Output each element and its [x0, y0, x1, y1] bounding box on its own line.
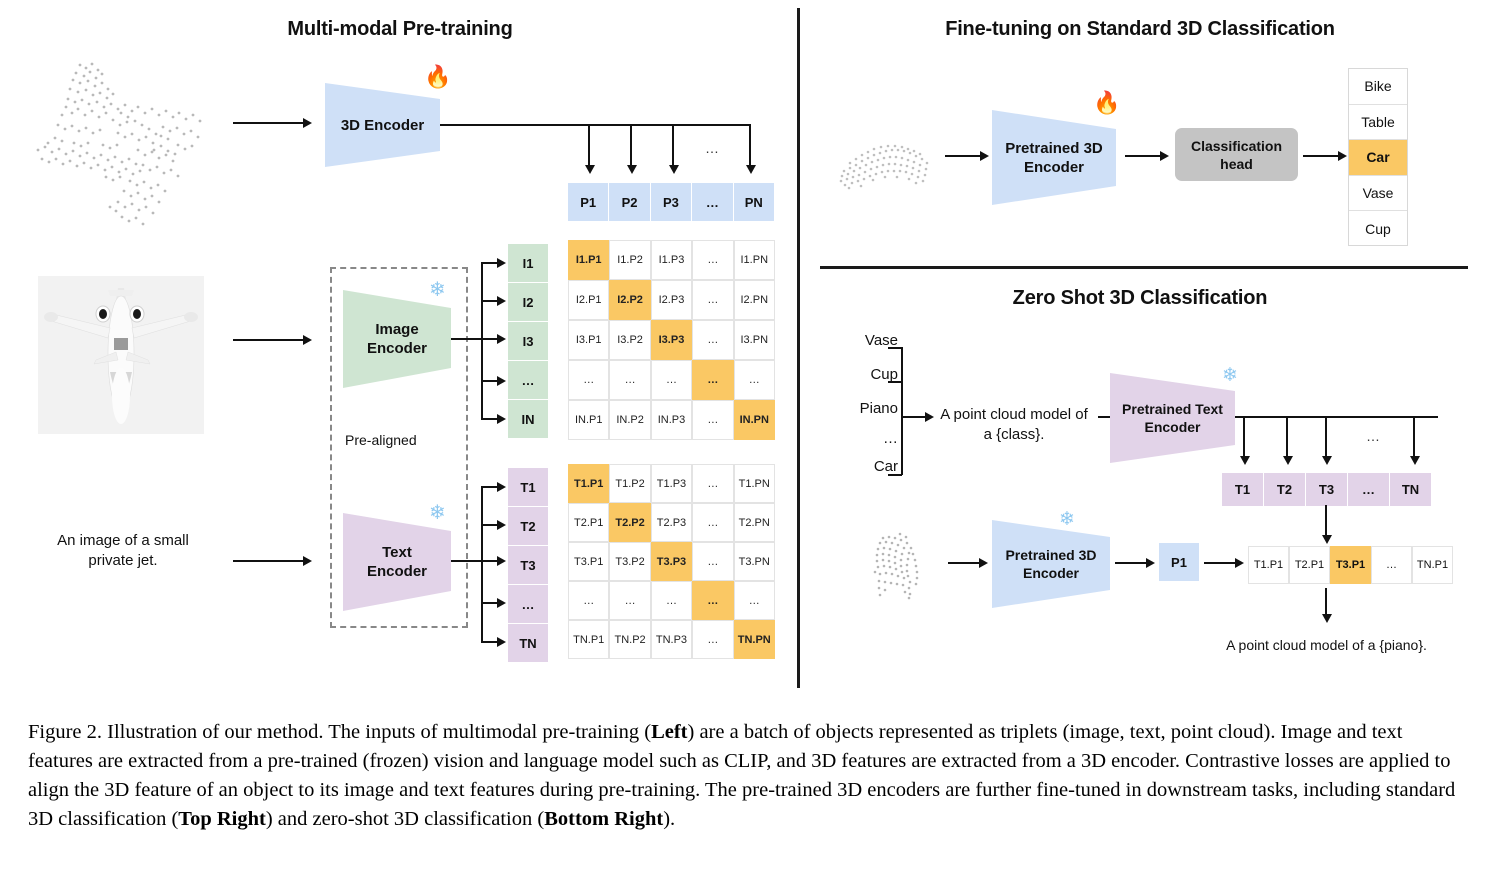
- arrowhead-t3: [497, 556, 506, 566]
- text-similarity-cell: T3.P3: [651, 542, 692, 581]
- image-similarity-cell: I3.P3: [651, 320, 692, 360]
- image-similarity-cell: I1.PN: [734, 240, 775, 280]
- point-feature-cell: …: [692, 183, 733, 221]
- image-encoder-label-line1: Image: [375, 321, 418, 338]
- arrowhead-i2: [497, 296, 506, 306]
- text-feature-cell: T3: [508, 546, 548, 585]
- image-similarity-cell: …: [692, 320, 733, 360]
- arrowhead-t4: [497, 598, 506, 608]
- arrowhead-p1: [585, 165, 595, 174]
- zs-p1-label: P1: [1171, 555, 1187, 570]
- caption-emphasis: Bottom Right: [544, 808, 663, 830]
- text-similarity-cell: T2.P2: [609, 503, 650, 542]
- image-similarity-cell: …: [692, 280, 733, 320]
- panel-title-left: Multi-modal Pre-training: [150, 18, 650, 41]
- class-bracket-bottom: [888, 474, 902, 476]
- caption-emphasis: Top Right: [178, 808, 266, 830]
- class-bracket-top: [888, 347, 902, 349]
- zs-bus-drop-t1: [1243, 416, 1245, 458]
- arrow-encoder-to-p1: [1115, 562, 1149, 564]
- arrowhead-pn: [746, 165, 756, 174]
- text-similarity-cell: T3.P1: [568, 542, 609, 581]
- text-feature-column: T1T2T3…TN: [508, 468, 548, 663]
- arrow-pointcloud-to-encoder: [233, 122, 305, 124]
- image-similarity-cell: I1.P2: [609, 240, 650, 280]
- image-similarity-cell: I1.P3: [651, 240, 692, 280]
- zero-shot-class-name: Piano: [820, 400, 898, 417]
- text-similarity-cell: T1.P2: [609, 464, 650, 503]
- point-cloud-car: [828, 135, 938, 190]
- prompt-line1: A point cloud model of: [940, 406, 1088, 423]
- zs-bus-ellipsis: …: [1366, 428, 1380, 444]
- point-feature-row: P1P2P3…PN: [568, 183, 775, 221]
- arrowhead-i4: [497, 376, 506, 386]
- point-cloud-airplane: [18, 45, 233, 240]
- image-similarity-cell: I2.P3: [651, 280, 692, 320]
- bus-encoder-to-p: [440, 124, 750, 126]
- arrowhead-p3: [669, 165, 679, 174]
- text-similarity-cell: T2.P1: [568, 503, 609, 542]
- arrowhead-car-to-encoder: [980, 151, 989, 161]
- image-similarity-cell: IN.PN: [734, 400, 775, 440]
- arrowhead-image-to-encoder: [303, 335, 312, 345]
- text-similarity-cell: TN.PN: [734, 620, 775, 659]
- zero-shot-result: A point cloud model of a {piano}.: [1204, 637, 1449, 653]
- arrowhead-zs-t2: [1283, 456, 1293, 465]
- arrowhead-t2: [497, 520, 506, 530]
- pretrained-3d-encoder-finetune[interactable]: Pretrained 3D Encoder: [992, 110, 1116, 205]
- class-bracket-cup: [888, 381, 902, 383]
- image-similarity-cell: I1.P1: [568, 240, 609, 280]
- image-encoder[interactable]: Image Encoder: [343, 290, 451, 388]
- arrowhead-scores-to-result: [1322, 614, 1332, 623]
- arrowhead-encoder-to-head: [1160, 151, 1169, 161]
- arrowhead-zs-t3: [1322, 456, 1332, 465]
- image-similarity-cell: …: [692, 240, 733, 280]
- figure-canvas: Multi-modal Pre-training: [0, 0, 1490, 700]
- arrowhead-p2: [627, 165, 637, 174]
- text-similarity-cell: …: [734, 581, 775, 620]
- text-similarity-cell: …: [568, 581, 609, 620]
- class-list-item[interactable]: Table: [1349, 105, 1407, 141]
- horizontal-divider: [820, 266, 1468, 269]
- bus-ellipsis: …: [705, 140, 719, 156]
- text-fanout-bus: [481, 486, 483, 643]
- arrowhead-t-row-to-score: [1322, 535, 1332, 544]
- zs-score-cell: TN.P1: [1412, 546, 1453, 584]
- image-similarity-cell: …: [609, 360, 650, 400]
- image-similarity-cell: IN.P3: [651, 400, 692, 440]
- arrowhead-tn: [497, 637, 506, 647]
- arrowhead-zs-tn: [1410, 456, 1420, 465]
- text-similarity-cell: …: [651, 581, 692, 620]
- panel-title-top-right: Fine-tuning on Standard 3D Classificatio…: [880, 18, 1400, 41]
- image-similarity-cell: IN.P1: [568, 400, 609, 440]
- image-similarity-cell: I2.PN: [734, 280, 775, 320]
- text-similarity-cell: TN.P3: [651, 620, 692, 659]
- arrowhead-text-to-encoder: [303, 556, 312, 566]
- image-similarity-cell: …: [568, 360, 609, 400]
- text-feature-cell: …: [508, 585, 548, 624]
- text-similarity-cell: T3.PN: [734, 542, 775, 581]
- zs-text-feature-cell: TN: [1390, 473, 1432, 506]
- pre-aligned-label: Pre-aligned: [345, 432, 417, 448]
- zs-3d-encoder-line2: Encoder: [1023, 565, 1079, 581]
- zs-bus-drop-t2: [1286, 416, 1288, 458]
- arrow-p1-to-scores: [1204, 562, 1238, 564]
- arrowhead-p1-to-scores: [1235, 558, 1244, 568]
- arrow-classes-to-prompt: [901, 416, 928, 418]
- zero-shot-class-name: …: [820, 430, 898, 447]
- point-feature-cell: P1: [568, 183, 609, 221]
- arrow-scores-to-result: [1325, 588, 1327, 616]
- text-similarity-cell: …: [609, 581, 650, 620]
- point-feature-cell: PN: [734, 183, 775, 221]
- text-similarity-cell: T3.P2: [609, 542, 650, 581]
- point-cloud-piano: [865, 528, 945, 600]
- class-list-item[interactable]: Bike: [1349, 69, 1407, 105]
- encoder-3d-label: 3D Encoder: [341, 117, 424, 134]
- zs-score-cell: T3.P1: [1330, 546, 1371, 584]
- arrow-encoder-to-head: [1125, 155, 1163, 157]
- text-similarity-cell: T1.P1: [568, 464, 609, 503]
- pretrained-3d-encoder-zeroshot[interactable]: Pretrained 3D Encoder: [992, 520, 1110, 608]
- text-similarity-cell: TN.P1: [568, 620, 609, 659]
- input-text-line2: private jet.: [88, 552, 157, 569]
- class-list-finetune: BikeTableCarVaseCup: [1348, 68, 1408, 246]
- image-feature-cell: IN: [508, 400, 548, 439]
- jet-render: [38, 276, 204, 434]
- arrowhead-piano-to-encoder: [979, 558, 988, 568]
- class-bracket-vertical: [901, 347, 903, 475]
- point-feature-cell: P2: [609, 183, 650, 221]
- pretrained-text-encoder[interactable]: Pretrained Text Encoder: [1110, 373, 1235, 463]
- classification-head[interactable]: Classification head: [1175, 128, 1298, 181]
- ft-encoder-label-line1: Pretrained 3D: [1005, 140, 1103, 157]
- text-similarity-cell: …: [692, 464, 733, 503]
- image-similarity-cell: IN.P2: [609, 400, 650, 440]
- prompt-template: A point cloud model of a {class}.: [934, 405, 1094, 445]
- prompt-line2: a {class}.: [984, 426, 1045, 443]
- image-similarity-cell: …: [651, 360, 692, 400]
- input-text-caption: An image of a small private jet.: [28, 531, 218, 571]
- zero-shot-class-names: VaseCupPiano…Car: [820, 332, 898, 482]
- zs-text-feature-cell: T3: [1306, 473, 1348, 506]
- arrowhead-pointcloud-to-encoder: [303, 118, 312, 128]
- text-similarity-cell: T2.PN: [734, 503, 775, 542]
- zs-score-cell: T1.P1: [1248, 546, 1289, 584]
- text-similarity-cell: T1.P3: [651, 464, 692, 503]
- zs-bus-drop-tn: [1413, 416, 1415, 458]
- text-encoder[interactable]: Text Encoder: [343, 513, 451, 611]
- text-similarity-cell: T2.P3: [651, 503, 692, 542]
- input-image-jet: [38, 276, 204, 434]
- point-feature-cell: P3: [651, 183, 692, 221]
- image-similarity-cell: …: [692, 360, 733, 400]
- classification-head-line2: head: [1220, 156, 1253, 172]
- panel-title-bottom-right: Zero Shot 3D Classification: [920, 287, 1360, 310]
- bus-drop-p1: [588, 124, 590, 167]
- arrow-car-to-encoder: [945, 155, 983, 157]
- arrow-image-to-encoder: [233, 339, 305, 341]
- class-list-item[interactable]: Cup: [1349, 211, 1407, 247]
- text-similarity-cell: …: [692, 503, 733, 542]
- arrowhead-t1: [497, 482, 506, 492]
- image-point-matrix: I1.P1I1.P2I1.P3…I1.PNI2.P1I2.P2I2.P3…I2.…: [568, 240, 775, 440]
- text-similarity-cell: …: [692, 542, 733, 581]
- text-feature-cell: T1: [508, 468, 548, 507]
- arrowhead-head-to-classes: [1338, 151, 1347, 161]
- arrowhead-classes-to-prompt: [925, 412, 934, 422]
- arrowhead-i3: [497, 334, 506, 344]
- zs-text-encoder-line1: Pretrained Text: [1122, 401, 1223, 417]
- bus-drop-pn: [749, 124, 751, 167]
- vertical-divider: [797, 8, 800, 688]
- image-encoder-label-line2: Encoder: [367, 340, 427, 357]
- image-feature-cell: I2: [508, 283, 548, 322]
- zs-3d-encoder-line1: Pretrained 3D: [1005, 547, 1096, 563]
- ft-encoder-label-line2: Encoder: [1024, 159, 1084, 176]
- image-similarity-cell: …: [692, 400, 733, 440]
- zs-score-cell: T2.P1: [1289, 546, 1330, 584]
- input-text-line1: An image of a small: [57, 532, 189, 549]
- image-fanout-bus: [481, 262, 483, 419]
- arrow-text-to-encoder: [233, 560, 305, 562]
- classification-head-line1: Classification: [1191, 138, 1282, 154]
- image-similarity-cell: I3.P1: [568, 320, 609, 360]
- zs-text-feature-row: T1T2T3…TN: [1222, 473, 1432, 506]
- image-feature-cell: I3: [508, 322, 548, 361]
- zs-text-feature-cell: T2: [1264, 473, 1306, 506]
- image-similarity-cell: …: [734, 360, 775, 400]
- image-similarity-cell: I3.PN: [734, 320, 775, 360]
- image-similarity-cell: I3.P2: [609, 320, 650, 360]
- image-similarity-cell: I2.P2: [609, 280, 650, 320]
- bus-drop-p2: [630, 124, 632, 167]
- text-feature-cell: TN: [508, 624, 548, 663]
- image-similarity-cell: I2.P1: [568, 280, 609, 320]
- class-list-item[interactable]: Car: [1349, 140, 1407, 176]
- zero-shot-class-name: Vase: [820, 332, 898, 349]
- text-encoder-label-line1: Text: [382, 544, 412, 561]
- arrowhead-in: [497, 414, 506, 424]
- text-similarity-cell: T1.PN: [734, 464, 775, 503]
- zs-text-feature-cell: T1: [1222, 473, 1264, 506]
- arrow-piano-to-encoder: [948, 562, 982, 564]
- text-point-matrix: T1.P1T1.P2T1.P3…T1.PNT2.P1T2.P2T2.P3…T2.…: [568, 464, 775, 659]
- arrow-head-to-classes: [1303, 155, 1341, 157]
- caption-emphasis: Left: [651, 721, 687, 743]
- zero-shot-class-name: Cup: [820, 366, 898, 383]
- zs-point-feature-p1: P1: [1159, 543, 1199, 581]
- zs-score-cell: …: [1371, 546, 1412, 584]
- image-feature-cell: I1: [508, 244, 548, 283]
- figure-caption: Figure 2. Illustration of our method. Th…: [28, 718, 1468, 834]
- zs-text-feature-cell: …: [1348, 473, 1390, 506]
- class-list-item[interactable]: Vase: [1349, 176, 1407, 212]
- arrow-t-row-to-score: [1325, 505, 1327, 537]
- arrowhead-encoder-to-p1: [1146, 558, 1155, 568]
- zero-shot-class-name: Car: [820, 458, 898, 475]
- zs-bus-horizontal: [1235, 416, 1438, 418]
- image-feature-cell: …: [508, 361, 548, 400]
- encoder-3d[interactable]: 3D Encoder: [325, 83, 440, 167]
- text-similarity-cell: …: [692, 620, 733, 659]
- zs-bus-drop-t3: [1325, 416, 1327, 458]
- text-feature-cell: T2: [508, 507, 548, 546]
- arrowhead-i1: [497, 258, 506, 268]
- text-similarity-cell: …: [692, 581, 733, 620]
- text-similarity-cell: TN.P2: [609, 620, 650, 659]
- zs-text-encoder-line2: Encoder: [1144, 419, 1200, 435]
- text-encoder-label-line2: Encoder: [367, 563, 427, 580]
- image-feature-column: I1I2I3…IN: [508, 244, 548, 439]
- zs-score-row: T1.P1T2.P1T3.P1…TN.P1: [1248, 546, 1453, 584]
- arrowhead-zs-t1: [1240, 456, 1250, 465]
- bus-drop-p3: [672, 124, 674, 167]
